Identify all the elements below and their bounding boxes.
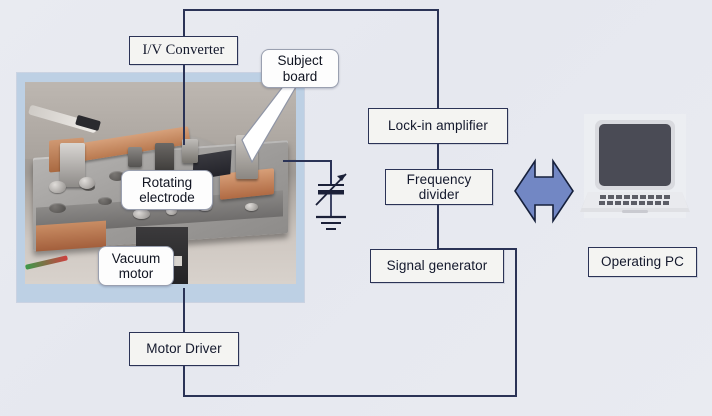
- line-top-bus: [183, 9, 439, 11]
- block-label: Motor Driver: [146, 341, 221, 356]
- callout-line1: Subject: [277, 53, 322, 68]
- block-label: I/V Converter: [143, 42, 225, 58]
- callout-rotating-electrode[interactable]: Rotating electrode: [121, 170, 213, 210]
- callout-line1: Vacuum: [112, 251, 161, 266]
- callout-line1: Rotating: [142, 175, 192, 190]
- block-label: Operating PC: [601, 254, 684, 269]
- figure-canvas: I/V Converter Lock-in amplifier Frequenc…: [0, 0, 712, 416]
- block-lock-in-amplifier[interactable]: Lock-in amplifier: [368, 108, 508, 144]
- line-iv-to-probe: [183, 65, 185, 145]
- block-label: Lock-in amplifier: [388, 118, 488, 133]
- block-operating-pc[interactable]: Operating PC: [588, 247, 697, 277]
- double-headed-arrow-icon: [513, 155, 575, 227]
- callout-line2: electrode: [139, 190, 195, 205]
- line-top-to-lockin: [437, 9, 439, 109]
- line-lockin-to-divider: [437, 143, 439, 170]
- callout-line2: board: [283, 69, 318, 84]
- block-motor-driver[interactable]: Motor Driver: [129, 332, 239, 366]
- block-signal-generator[interactable]: Signal generator: [370, 249, 504, 283]
- line-iv-to-top: [183, 9, 185, 36]
- block-label-line1: Frequency: [407, 172, 472, 187]
- callout-subject-board[interactable]: Subject board: [261, 49, 339, 88]
- block-frequency-divider[interactable]: Frequency divider: [385, 169, 493, 205]
- line-bottom-bus: [183, 395, 517, 397]
- block-iv-converter[interactable]: I/V Converter: [129, 36, 238, 65]
- line-motordriver-to-motor: [183, 288, 185, 332]
- callout-line2: motor: [119, 266, 154, 281]
- variable-capacitor-ground-symbol: [308, 160, 354, 240]
- line-bottom-to-motordriver: [183, 366, 185, 396]
- line-right-down: [515, 248, 517, 396]
- line-divider-to-siggen: [437, 204, 439, 249]
- callout-vacuum-motor[interactable]: Vacuum motor: [98, 246, 174, 286]
- block-label-line2: divider: [419, 187, 459, 202]
- laptop-computer-icon: [578, 112, 692, 222]
- block-label: Signal generator: [387, 258, 488, 273]
- subject-board-pointer: [228, 78, 318, 168]
